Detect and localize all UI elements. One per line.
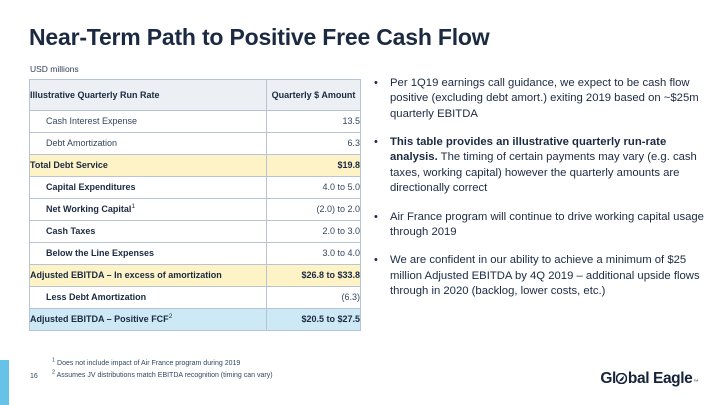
table-cell-label: Capital Expenditures: [30, 177, 267, 199]
page-title: Near-Term Path to Positive Free Cash Flo…: [29, 24, 489, 51]
table-row: Less Debt Amortization(6.3): [30, 287, 361, 309]
table-cell-label: Less Debt Amortization: [30, 287, 267, 309]
global-eagle-logo: Gl bal Eagle ™: [600, 370, 698, 388]
table-row: Cash Interest Expense13.5: [30, 111, 361, 133]
table-cell-amount: $20.5 to $27.5: [267, 309, 361, 331]
bullet-text: We are confident in our ability to achie…: [390, 253, 706, 299]
table-cell-amount: $19.8: [267, 155, 361, 177]
table-cell-amount: 13.5: [267, 111, 361, 133]
bullet-item: •Air France program will continue to dri…: [374, 210, 706, 241]
column-header-amount: Quarterly $ Amount: [267, 80, 361, 111]
table-cell-amount: 2.0 to 3.0: [267, 221, 361, 243]
page-number: 16: [30, 373, 38, 380]
table-cell-amount: 3.0 to 4.0: [267, 243, 361, 265]
table-body: Cash Interest Expense13.5Debt Amortizati…: [30, 111, 361, 331]
table-row: Capital Expenditures4.0 to 5.0: [30, 177, 361, 199]
table-cell-amount: (6.3): [267, 287, 361, 309]
table-cell-label: Net Working Capital1: [30, 199, 267, 221]
table-cell-label: Cash Interest Expense: [30, 111, 267, 133]
table-row: Net Working Capital1(2.0) to 2.0: [30, 199, 361, 221]
table-cell-amount: (2.0) to 2.0: [267, 199, 361, 221]
column-header-label: Illustrative Quarterly Run Rate: [30, 80, 267, 111]
footnote-text: Does not include impact of Air France pr…: [55, 360, 240, 367]
footnote-list: 1 Does not include impact of Air France …: [52, 358, 382, 383]
table-cell-label: Total Debt Service: [30, 155, 267, 177]
bullet-item: •This table provides an illustrative qua…: [374, 135, 706, 196]
table-cell-label: Debt Amortization: [30, 133, 267, 155]
run-rate-table: Illustrative Quarterly Run Rate Quarterl…: [29, 79, 361, 331]
logo-trademark: ™: [693, 379, 698, 385]
bullet-dot-icon: •: [374, 76, 390, 91]
table-cell-amount: $26.8 to $33.8: [267, 265, 361, 287]
bullet-item: •Per 1Q19 earnings call guidance, we exp…: [374, 76, 706, 122]
table-cell-label: Below the Line Expenses: [30, 243, 267, 265]
run-rate-table-container: Illustrative Quarterly Run Rate Quarterl…: [29, 79, 360, 331]
table-cell-label: Cash Taxes: [30, 221, 267, 243]
footnote-item: 1 Does not include impact of Air France …: [52, 358, 382, 370]
units-label: USD millions: [30, 64, 79, 74]
table-row: Adjusted EBITDA – In excess of amortizat…: [30, 265, 361, 287]
left-edge-accent-bar: [0, 360, 9, 405]
footnote-text: Assumes JV distributions match EBITDA re…: [55, 372, 272, 379]
table-row: Below the Line Expenses3.0 to 4.0: [30, 243, 361, 265]
table-cell-label: Adjusted EBITDA – Positive FCF2: [30, 309, 267, 331]
bullet-dot-icon: •: [374, 210, 390, 225]
bullet-dot-icon: •: [374, 135, 390, 150]
table-cell-label: Adjusted EBITDA – In excess of amortizat…: [30, 265, 267, 287]
table-row: Adjusted EBITDA – Positive FCF2$20.5 to …: [30, 309, 361, 331]
bullet-list: •Per 1Q19 earnings call guidance, we exp…: [374, 76, 706, 312]
table-row: Debt Amortization6.3: [30, 133, 361, 155]
table-row: Cash Taxes2.0 to 3.0: [30, 221, 361, 243]
bullet-text: Per 1Q19 earnings call guidance, we expe…: [390, 76, 706, 122]
table-row: Total Debt Service$19.8: [30, 155, 361, 177]
bullet-text: Air France program will continue to driv…: [390, 210, 706, 241]
bullet-dot-icon: •: [374, 253, 390, 268]
footnote-marker: 1: [131, 203, 135, 210]
bullet-text: This table provides an illustrative quar…: [390, 135, 706, 196]
table-cell-amount: 4.0 to 5.0: [267, 177, 361, 199]
leaf-swoosh-icon: [616, 373, 627, 384]
footnote-marker: 2: [169, 313, 173, 320]
table-cell-amount: 6.3: [267, 133, 361, 155]
footnote-item: 2 Assumes JV distributions match EBITDA …: [52, 370, 382, 382]
logo-text-first: Gl: [600, 370, 616, 388]
logo-text-rest: bal Eagle: [628, 370, 692, 388]
bullet-item: •We are confident in our ability to achi…: [374, 253, 706, 299]
table-header-row: Illustrative Quarterly Run Rate Quarterl…: [30, 80, 361, 111]
